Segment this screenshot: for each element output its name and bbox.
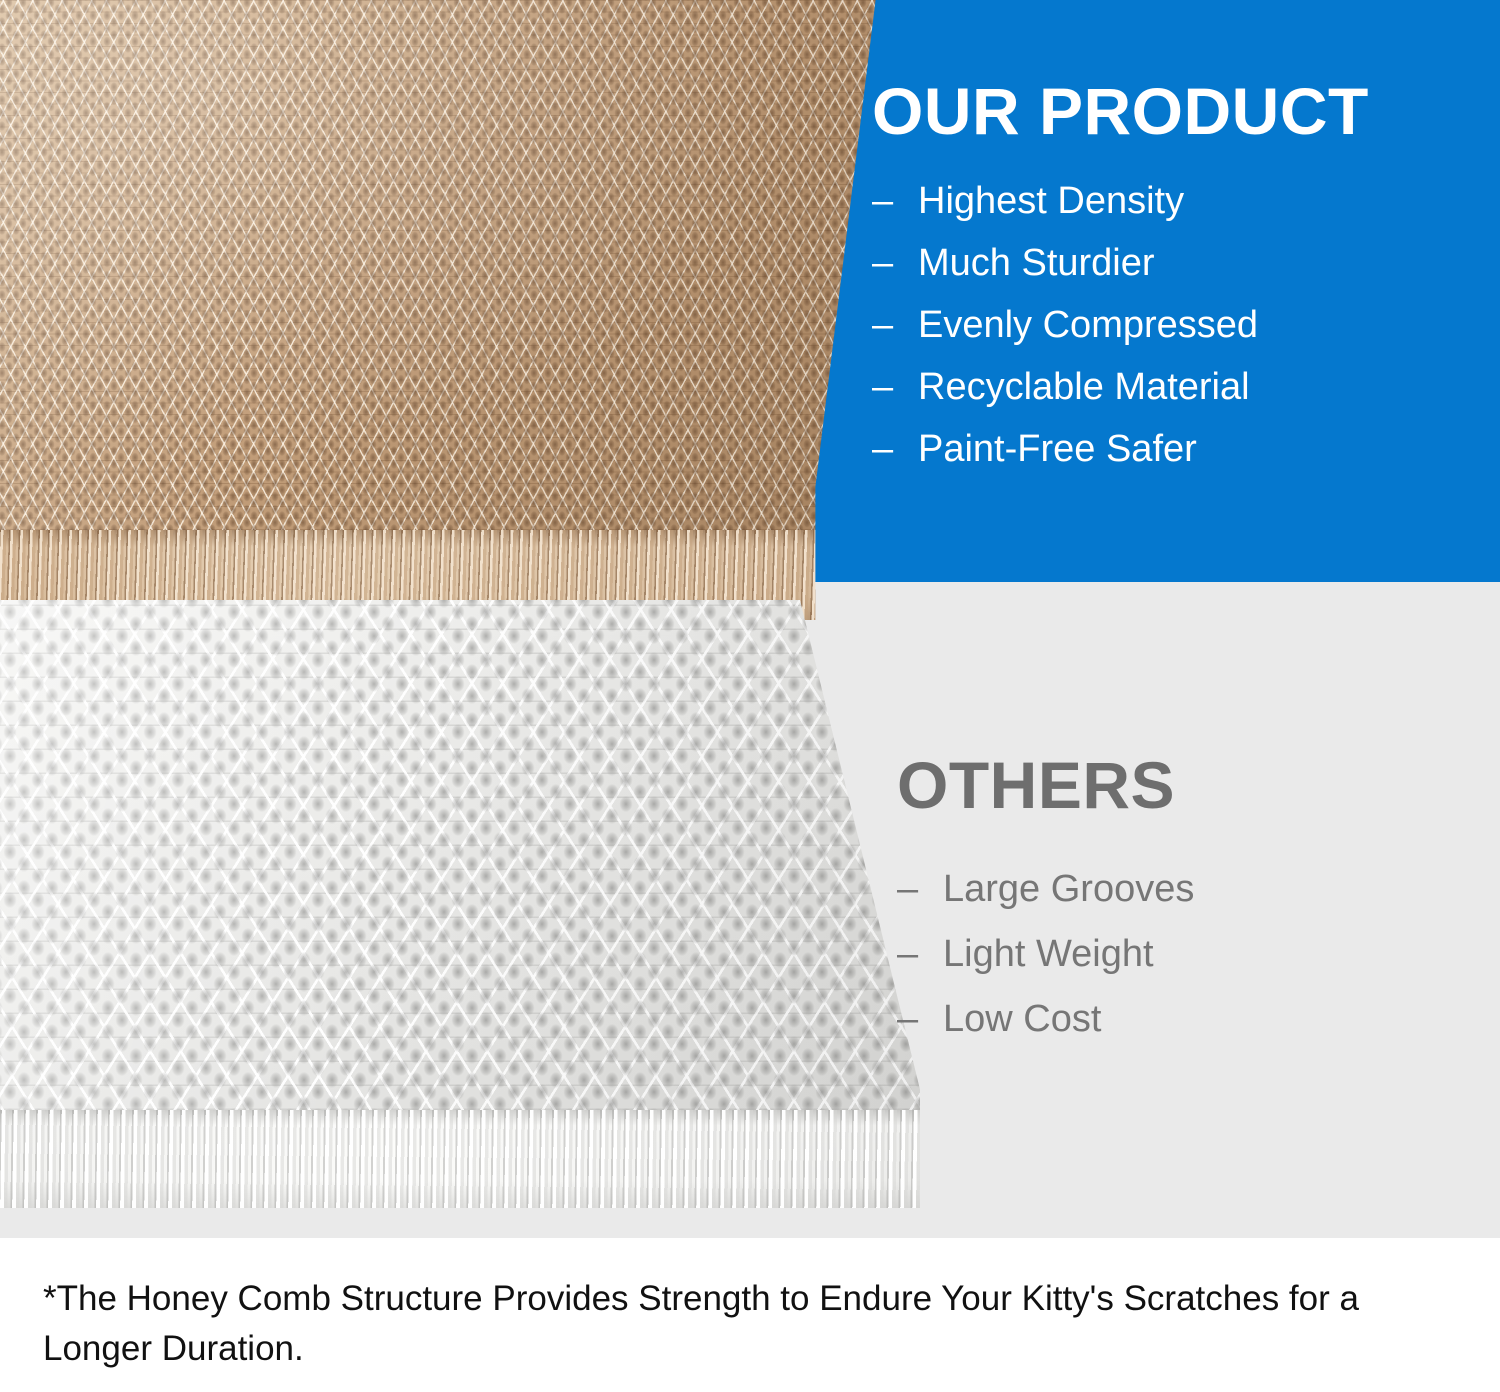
others-board-honeycomb-face: [0, 600, 940, 1110]
product-feature-item: – Highest Density: [872, 182, 1472, 220]
others-honeycomb-board-image: [0, 600, 940, 1208]
others-feature-list: – Large Grooves – Light Weight – Low Cos…: [897, 870, 1457, 1038]
dash-bullet-icon: –: [897, 935, 943, 973]
others-feature-item: – Large Grooves: [897, 870, 1457, 908]
product-comparison-infographic: OUR PRODUCT – Highest Density – Much Stu…: [0, 0, 1500, 1392]
comparison-area: OUR PRODUCT – Highest Density – Much Stu…: [0, 0, 1500, 1238]
dash-bullet-icon: –: [897, 1000, 943, 1038]
product-feature-item: – Recyclable Material: [872, 368, 1472, 406]
others-feature-label: Large Grooves: [943, 870, 1194, 908]
others-feature-label: Low Cost: [943, 1000, 1101, 1038]
others-board-corrugated-edge: [0, 1110, 940, 1208]
dash-bullet-icon: –: [872, 368, 918, 406]
product-text-block: OUR PRODUCT – Highest Density – Much Stu…: [872, 78, 1472, 492]
product-feature-label: Evenly Compressed: [918, 306, 1258, 344]
others-text-block: OTHERS – Large Grooves – Light Weight – …: [897, 752, 1457, 1065]
dash-bullet-icon: –: [897, 870, 943, 908]
product-feature-label: Highest Density: [918, 182, 1184, 220]
footnote-area: *The Honey Comb Structure Provides Stren…: [0, 1238, 1500, 1392]
product-feature-item: – Much Sturdier: [872, 244, 1472, 282]
product-honeycomb-board-image: [0, 0, 900, 620]
product-board-honeycomb-face: [0, 0, 900, 530]
product-feature-label: Much Sturdier: [918, 244, 1155, 282]
product-feature-item: – Paint-Free Safer: [872, 430, 1472, 468]
dash-bullet-icon: –: [872, 306, 918, 344]
others-heading: OTHERS: [897, 752, 1457, 818]
others-feature-item: – Low Cost: [897, 1000, 1457, 1038]
footnote-text: *The Honey Comb Structure Provides Stren…: [43, 1274, 1373, 1373]
others-feature-item: – Light Weight: [897, 935, 1457, 973]
product-feature-list: – Highest Density – Much Sturdier – Even…: [872, 182, 1472, 468]
dash-bullet-icon: –: [872, 244, 918, 282]
product-feature-label: Recyclable Material: [918, 368, 1250, 406]
others-feature-label: Light Weight: [943, 935, 1154, 973]
dash-bullet-icon: –: [872, 182, 918, 220]
product-feature-label: Paint-Free Safer: [918, 430, 1197, 468]
product-feature-item: – Evenly Compressed: [872, 306, 1472, 344]
product-heading: OUR PRODUCT: [872, 78, 1472, 144]
dash-bullet-icon: –: [872, 430, 918, 468]
